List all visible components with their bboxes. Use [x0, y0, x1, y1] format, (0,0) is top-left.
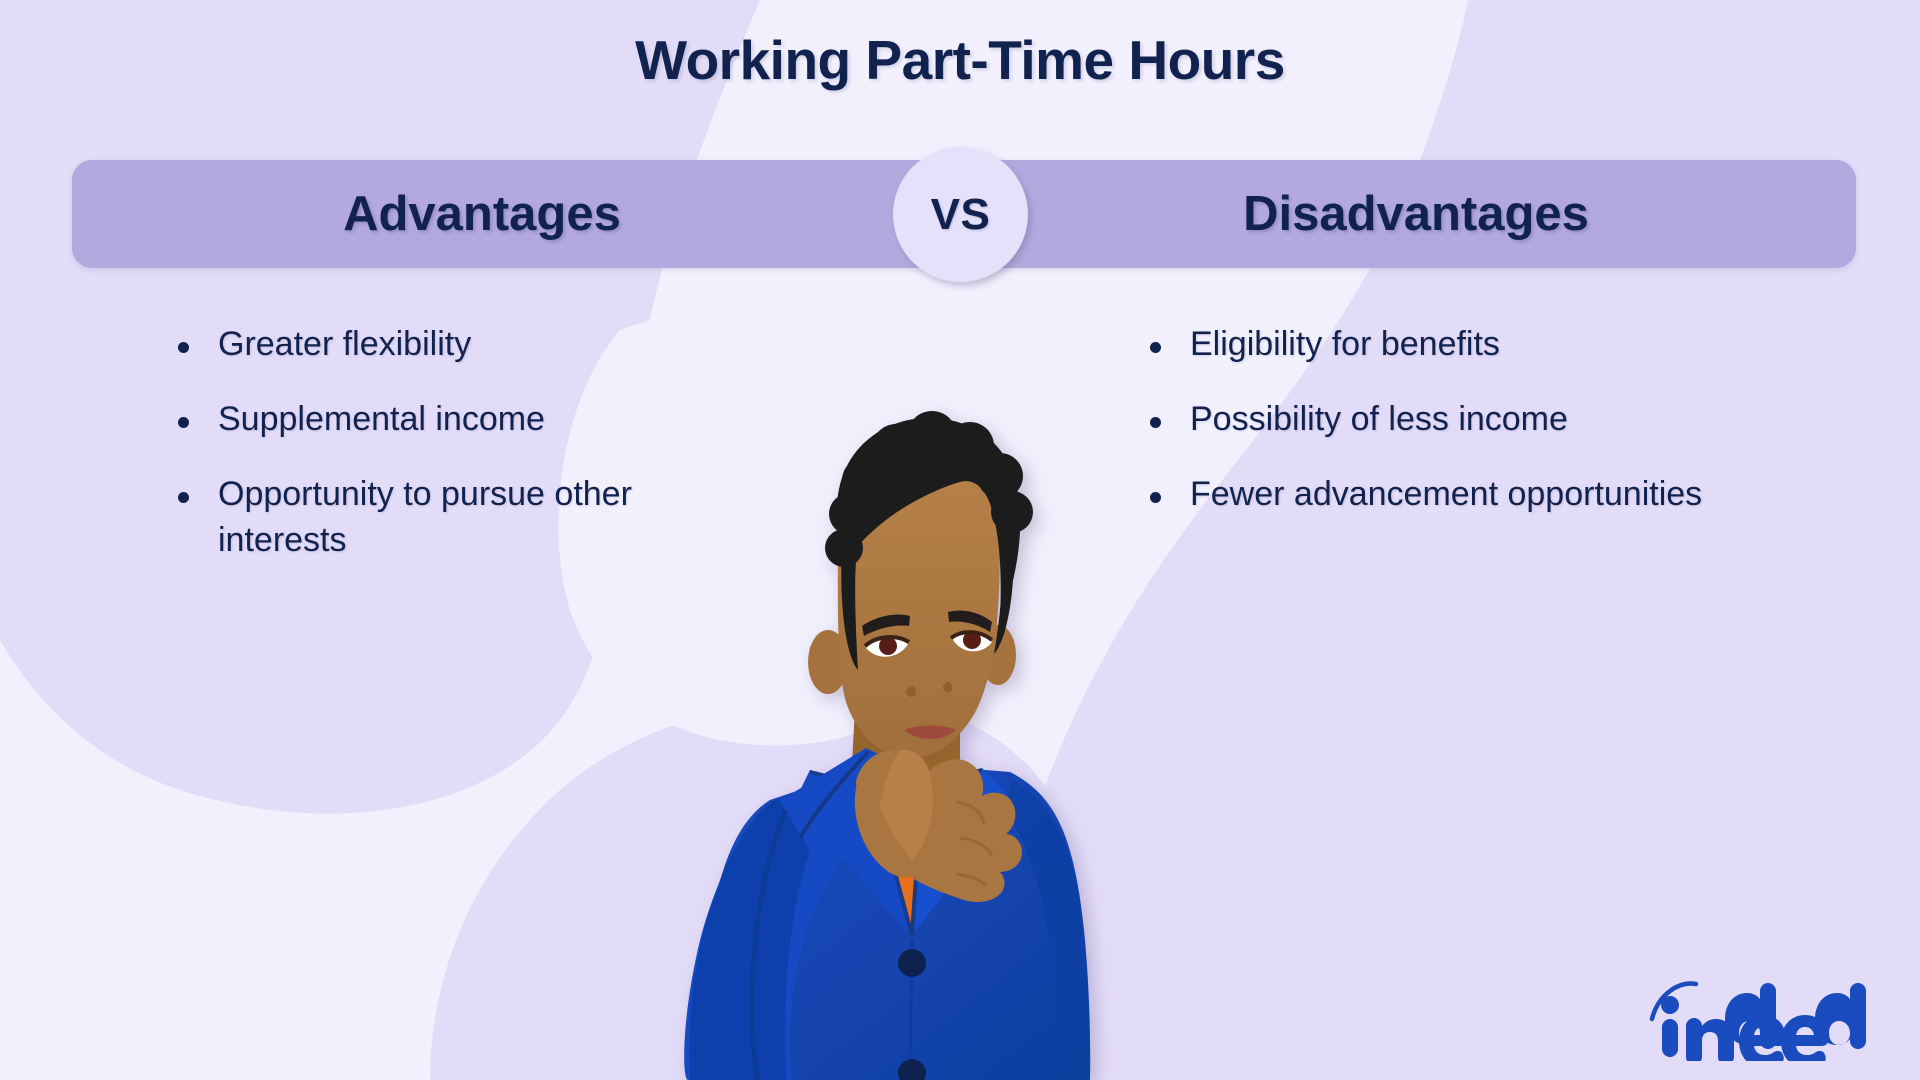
- bullet-dot-icon: [1150, 342, 1161, 353]
- list-item-label: Opportunity to pursue other interests: [218, 472, 698, 562]
- disadvantages-list: Eligibility for benefits Possibility of …: [1150, 322, 1870, 548]
- list-item: Eligibility for benefits: [1150, 322, 1870, 367]
- advantages-list: Greater flexibility Supplemental income …: [178, 322, 698, 593]
- page-title: Working Part-Time Hours: [0, 28, 1920, 92]
- list-item-label: Fewer advancement opportunities: [1190, 472, 1702, 517]
- jacket-button-top: [898, 949, 926, 977]
- list-item: Supplemental income: [178, 397, 698, 442]
- bullet-dot-icon: [178, 492, 189, 503]
- logo-letter-i: [1662, 1019, 1678, 1057]
- list-item-label: Supplemental income: [218, 397, 545, 442]
- list-item-label: Greater flexibility: [218, 322, 471, 367]
- hair-curl: [991, 491, 1033, 533]
- bullet-dot-icon: [1150, 492, 1161, 503]
- indeed-logo[interactable]: [1648, 975, 1878, 1061]
- list-item: Greater flexibility: [178, 322, 698, 367]
- list-item-label: Eligibility for benefits: [1190, 322, 1500, 367]
- list-item: Fewer advancement opportunities: [1150, 472, 1870, 517]
- figure-group: [684, 411, 1090, 1080]
- hair-curl: [829, 493, 871, 535]
- list-item-label: Possibility of less income: [1190, 397, 1568, 442]
- logo-wordmark-shape: [1652, 983, 1866, 1061]
- vs-badge: VS: [893, 147, 1028, 282]
- vs-label: VS: [931, 190, 991, 240]
- bullet-dot-icon: [178, 417, 189, 428]
- list-item: Possibility of less income: [1150, 397, 1870, 442]
- list-item: Opportunity to pursue other interests: [178, 472, 698, 562]
- infographic-canvas: Working Part-Time Hours Advantages Disad…: [0, 0, 1920, 1080]
- logo-letter-e1: [1739, 1015, 1786, 1061]
- disadvantages-heading: Disadvantages: [976, 160, 1856, 268]
- logo-letter-d2: [1815, 983, 1866, 1049]
- logo-i-dot: [1661, 996, 1679, 1014]
- bullet-dot-icon: [1150, 417, 1161, 428]
- bullet-dot-icon: [178, 342, 189, 353]
- advantages-heading: Advantages: [72, 160, 892, 268]
